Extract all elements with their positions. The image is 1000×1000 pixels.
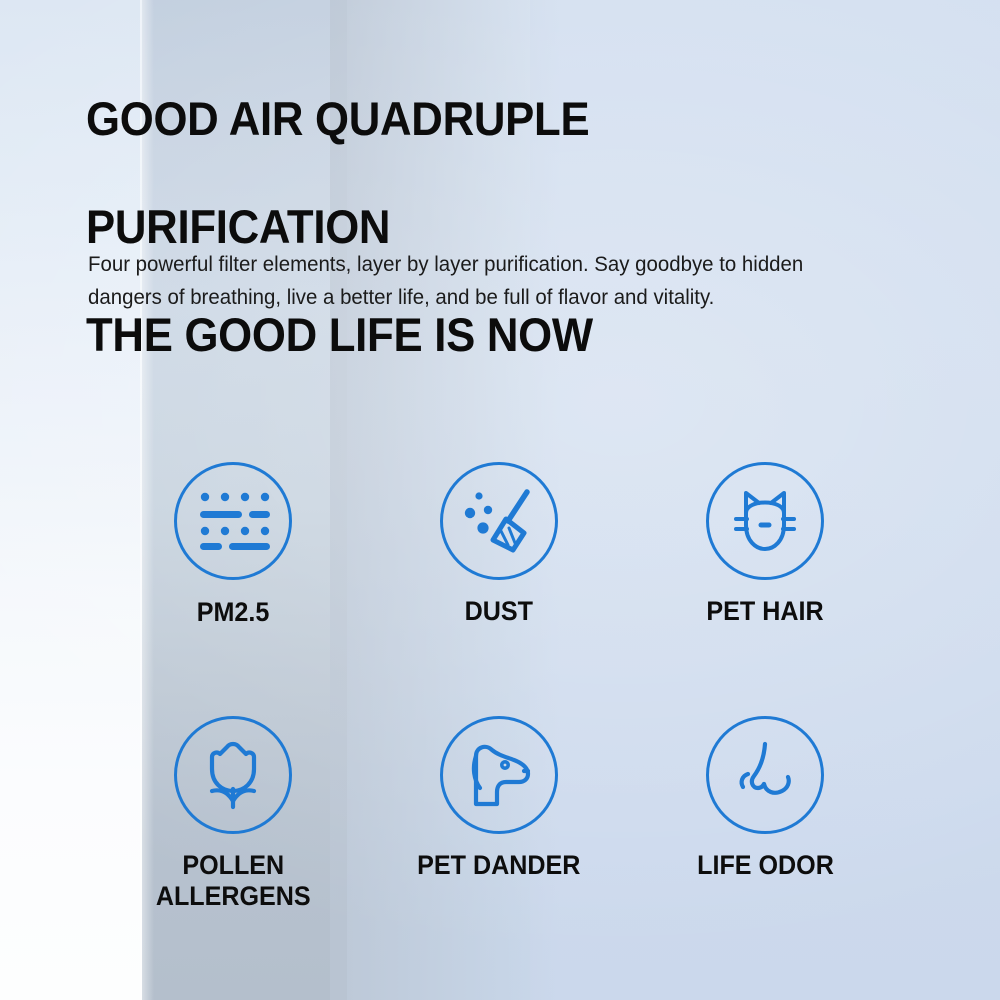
feature-label: LIFE ODOR xyxy=(697,850,834,881)
feature-row-2: POLLEN ALLERGENS PET DAND xyxy=(100,716,900,912)
promo-banner: GOOD AIR QUADRUPLE PURIFICATION THE GOOD… xyxy=(0,0,1000,1000)
feature-label: PET HAIR xyxy=(706,596,823,627)
tulip-flower-icon xyxy=(174,716,292,834)
feature-item-life-odor[interactable]: LIFE ODOR xyxy=(632,716,898,912)
feature-grid: PM2.5 xyxy=(100,462,900,912)
feature-item-dust[interactable]: DUST xyxy=(366,462,632,628)
page-title: GOOD AIR QUADRUPLE PURIFICATION THE GOOD… xyxy=(86,38,867,416)
feature-item-pet-dander[interactable]: PET DANDER xyxy=(366,716,632,912)
feature-item-pm25[interactable]: PM2.5 xyxy=(100,462,366,628)
dog-head-icon xyxy=(440,716,558,834)
headline-line-1: GOOD AIR QUADRUPLE xyxy=(86,92,589,145)
cat-face-icon xyxy=(706,462,824,580)
feature-row-1: PM2.5 xyxy=(100,462,900,628)
description-paragraph: Four powerful filter elements, layer by … xyxy=(88,248,848,314)
particles-icon xyxy=(174,462,292,580)
feature-label: PM2.5 xyxy=(197,597,270,628)
feature-item-pet-hair[interactable]: PET HAIR xyxy=(632,462,898,628)
broom-icon xyxy=(440,462,558,580)
nose-icon xyxy=(706,716,824,834)
feature-label: POLLEN ALLERGENS xyxy=(156,850,311,912)
headline-line-3: THE GOOD LIFE IS NOW xyxy=(86,308,867,362)
feature-label: PET DANDER xyxy=(417,850,580,881)
headline-line-2: PURIFICATION xyxy=(86,200,390,253)
feature-item-pollen[interactable]: POLLEN ALLERGENS xyxy=(100,716,366,912)
feature-label: DUST xyxy=(465,596,533,627)
